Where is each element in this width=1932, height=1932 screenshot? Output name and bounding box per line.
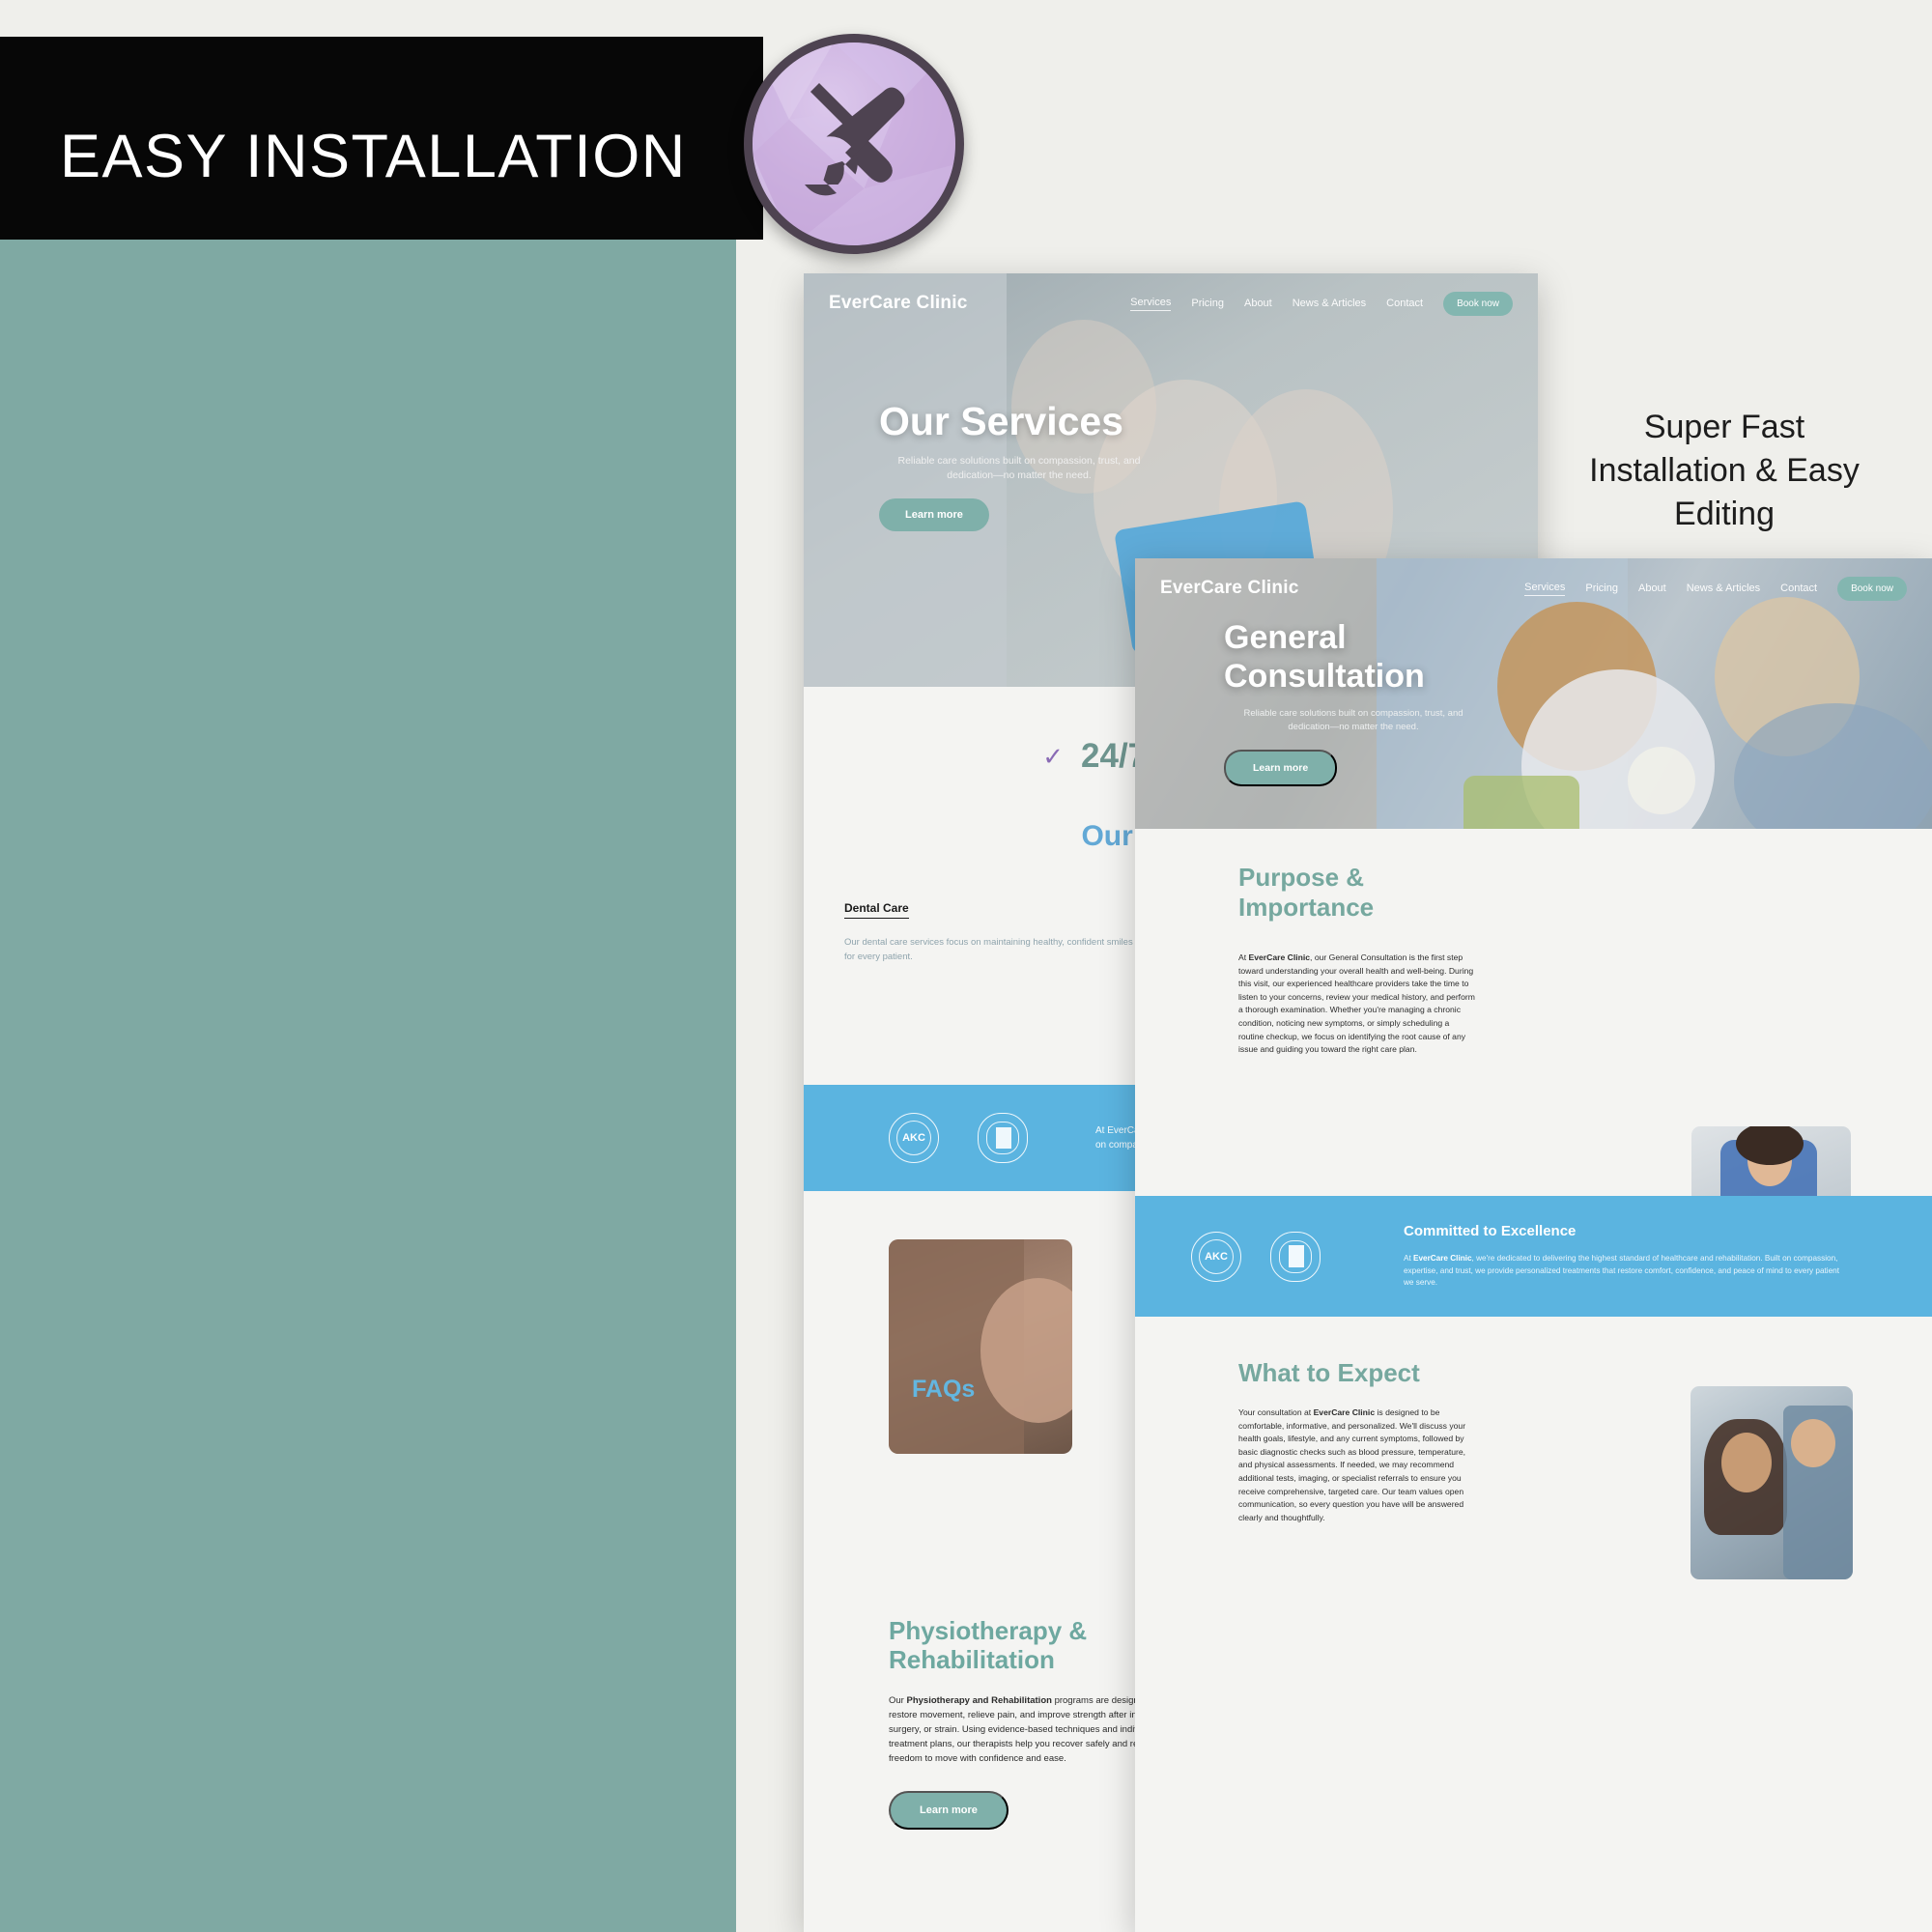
nav-links[interactable]: Services Pricing About News & Articles C… bbox=[1130, 292, 1513, 316]
easy-installation-banner: EASY INSTALLATION bbox=[0, 37, 763, 240]
service-title: Dental Care bbox=[844, 901, 909, 919]
committed-to-excellence-band: AKC Committed to Excellence At EverCare … bbox=[1135, 1196, 1932, 1317]
band-body: At EverCare Clinic, we're dedicated to d… bbox=[1404, 1253, 1848, 1290]
check-icon: ✓ bbox=[1042, 742, 1064, 772]
nav-item-news[interactable]: News & Articles bbox=[1687, 582, 1760, 594]
nav-item-about[interactable]: About bbox=[1638, 582, 1666, 594]
website-mockup-consultation[interactable]: EverCare Clinic Services Pricing About N… bbox=[1135, 558, 1932, 1932]
book-now-button[interactable]: Book now bbox=[1443, 292, 1513, 316]
nav-item-pricing[interactable]: Pricing bbox=[1191, 298, 1224, 309]
purpose-section: Purpose & Importance At EverCare Clinic,… bbox=[1135, 829, 1932, 1235]
wrench-screwdriver-icon bbox=[744, 34, 964, 254]
expect-strong: EverCare Clinic bbox=[1314, 1407, 1376, 1417]
purpose-heading: Purpose & Importance bbox=[1238, 863, 1461, 923]
service-card-dental[interactable]: Dental Care Our dental care services foc… bbox=[844, 899, 1171, 964]
band-strong: EverCare Clinic bbox=[1413, 1254, 1472, 1263]
nav-item-contact[interactable]: Contact bbox=[1780, 582, 1817, 594]
nav-item-about[interactable]: About bbox=[1244, 298, 1272, 309]
akc-seal-icon: AKC bbox=[1191, 1232, 1241, 1282]
hero-section-consultation: EverCare Clinic Services Pricing About N… bbox=[1135, 558, 1932, 829]
brand-logo[interactable]: EverCare Clinic bbox=[829, 293, 967, 314]
faq-photo-card[interactable]: FAQs bbox=[889, 1239, 1072, 1454]
learn-more-button[interactable]: Learn more bbox=[879, 498, 989, 531]
service-body: Our dental care services focus on mainta… bbox=[844, 935, 1142, 964]
faq-label: FAQs bbox=[912, 1376, 975, 1404]
nav-item-pricing[interactable]: Pricing bbox=[1585, 582, 1618, 594]
purpose-heading-line1: Purpose & bbox=[1238, 863, 1364, 892]
expect-photo bbox=[1690, 1386, 1853, 1579]
what-to-expect-section: What to Expect Your consultation at Ever… bbox=[1135, 1317, 1932, 1932]
purpose-body: At EverCare Clinic, our General Consulta… bbox=[1238, 952, 1475, 1057]
expect-rest: is designed to be comfortable, informati… bbox=[1238, 1407, 1465, 1522]
band-heading: Committed to Excellence bbox=[1404, 1223, 1848, 1239]
purpose-heading-line2: Importance bbox=[1238, 893, 1374, 922]
physiotherapy-learn-more-button[interactable]: Learn more bbox=[889, 1791, 1009, 1830]
award-ribbon-icon bbox=[978, 1113, 1028, 1163]
band-lead: At bbox=[1404, 1254, 1413, 1263]
phys-lead: Our bbox=[889, 1695, 906, 1706]
akc-seal-icon: AKC bbox=[889, 1113, 939, 1163]
hero-title: Our Services bbox=[879, 399, 1198, 443]
nav-item-services[interactable]: Services bbox=[1524, 582, 1565, 596]
accreditation-seals: AKC bbox=[1191, 1232, 1321, 1282]
hero-title-line1: General bbox=[1224, 618, 1523, 657]
award-ribbon-icon bbox=[1270, 1232, 1321, 1282]
site-navbar[interactable]: EverCare Clinic Services Pricing About N… bbox=[1135, 558, 1932, 618]
brand-logo[interactable]: EverCare Clinic bbox=[1160, 578, 1298, 599]
hero-subtitle: Reliable care solutions built on compass… bbox=[1224, 707, 1483, 734]
hero-title-line2: Consultation bbox=[1224, 657, 1523, 696]
super-fast-note: Super Fast Installation & Easy Editing bbox=[1575, 406, 1874, 536]
nav-links[interactable]: Services Pricing About News & Articles C… bbox=[1524, 577, 1907, 601]
book-now-button[interactable]: Book now bbox=[1837, 577, 1907, 601]
purpose-lead: At bbox=[1238, 952, 1249, 962]
hero-copy: Our Services Reliable care solutions bui… bbox=[879, 399, 1198, 531]
nav-item-contact[interactable]: Contact bbox=[1386, 298, 1423, 309]
expect-lead: Your consultation at bbox=[1238, 1407, 1314, 1417]
hero-subtitle: Reliable care solutions built on compass… bbox=[879, 454, 1159, 483]
learn-more-button[interactable]: Learn more bbox=[1224, 750, 1337, 786]
banner-title: EASY INSTALLATION bbox=[60, 122, 687, 191]
phys-strong: Physiotherapy and Rehabilitation bbox=[906, 1695, 1051, 1706]
nav-item-services[interactable]: Services bbox=[1130, 297, 1171, 311]
purpose-rest: , our General Consultation is the first … bbox=[1238, 952, 1475, 1054]
nav-item-news[interactable]: News & Articles bbox=[1293, 298, 1366, 309]
left-feature-panel bbox=[0, 240, 736, 1932]
expect-body: Your consultation at EverCare Clinic is … bbox=[1238, 1406, 1478, 1524]
tools-glyph bbox=[781, 71, 926, 216]
site-navbar[interactable]: EverCare Clinic Services Pricing About N… bbox=[804, 273, 1538, 333]
purpose-strong: EverCare Clinic bbox=[1249, 952, 1311, 962]
expect-heading: What to Expect bbox=[1238, 1358, 1420, 1388]
band-text: Committed to Excellence At EverCare Clin… bbox=[1404, 1223, 1848, 1290]
hero-copy: General Consultation Reliable care solut… bbox=[1224, 618, 1523, 786]
